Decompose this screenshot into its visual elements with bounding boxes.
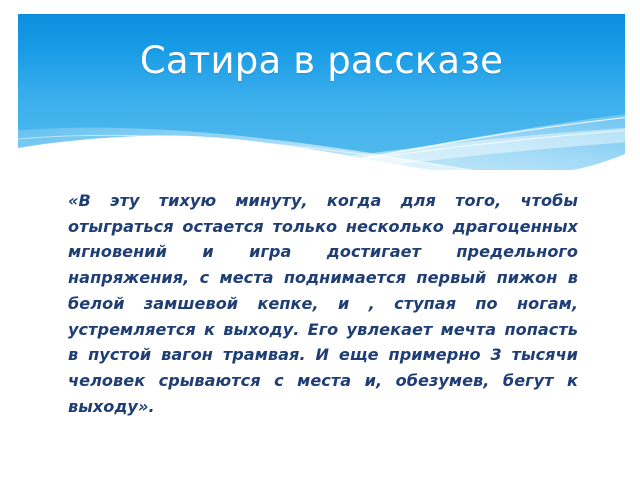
presentation-slide: Сатира в рассказе «В эту тихую минуту, к…	[0, 0, 640, 480]
slide-body-quote: «В эту тихую минуту, когда для того, что…	[68, 188, 578, 445]
slide-title: Сатира в рассказе	[18, 38, 625, 84]
